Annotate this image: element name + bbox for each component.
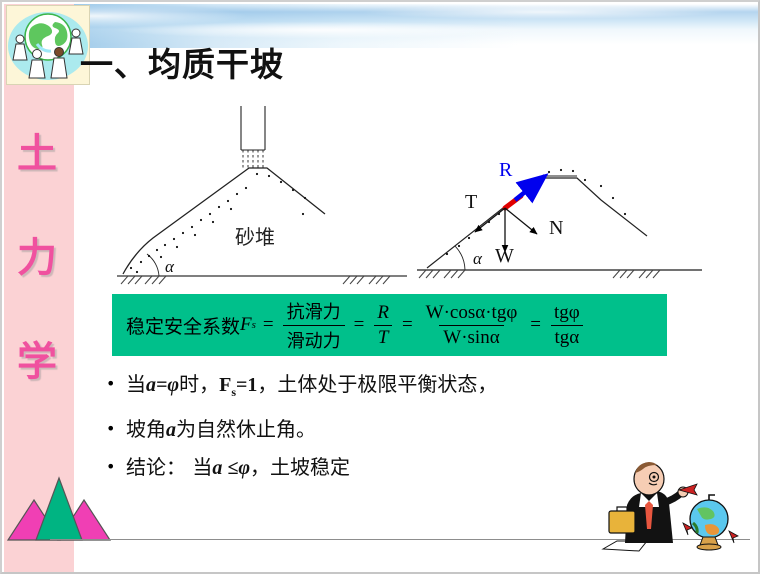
mountain-center-icon — [36, 478, 82, 540]
formula-equals-4: = — [530, 314, 541, 336]
formula-fraction-2: R T — [373, 302, 393, 349]
frac4-numerator: tgφ — [550, 302, 584, 325]
angle-label-left: α — [165, 257, 175, 276]
formula-lead-symbol: F — [240, 314, 252, 336]
b2-v1: a — [166, 419, 176, 441]
force-vector-N — [505, 208, 537, 234]
ground-hatching — [121, 276, 390, 284]
formula-lead-label: 稳定安全系数 — [126, 312, 240, 339]
frac4-denominator: tgα — [551, 325, 584, 349]
formula-fraction-3: W·cosα·tgφ W·sinα — [422, 302, 522, 349]
sand-pile-diagram: 砂堆 α — [117, 102, 417, 292]
b3-v2: φ — [238, 457, 250, 479]
bullet-text-2: 坡角a为自然休止角。 — [126, 415, 316, 444]
b3-p1: 结论： — [126, 455, 186, 479]
sidebar-vertical-title: 土 力 学 — [2, 102, 72, 414]
force-label-N: N — [549, 217, 563, 239]
bullet-dot: • — [102, 415, 126, 443]
bullet-dot: • — [102, 370, 126, 398]
angle-label-right: α — [473, 249, 483, 268]
formula-lead-symbol-sub: s — [252, 319, 256, 331]
briefcase-handle — [617, 507, 627, 511]
ground-hatching-right — [419, 270, 660, 278]
formula-box: 稳定安全系数 F s = 抗滑力 滑动力 = R T = W·cosα·tgφ … — [112, 294, 667, 356]
bullet-text-3: 结论： 当a ≤φ，土坡稳定 — [126, 453, 350, 482]
force-label-R: R — [499, 159, 513, 181]
force-vector-R — [515, 176, 545, 200]
sand-grains — [130, 173, 306, 273]
force-vector-T — [475, 208, 505, 232]
force-label-W: W — [495, 245, 514, 267]
formula-equals-2: = — [354, 314, 365, 336]
frac2-numerator: R — [373, 302, 393, 325]
frac1-numerator: 抗滑力 — [283, 298, 345, 325]
b1-v1: a — [146, 374, 156, 396]
b1-v2: φ — [167, 374, 179, 396]
b3-p2: 当 — [186, 455, 212, 479]
globe-axis — [709, 495, 715, 500]
list-item: • 当a=φ时，Fs=1，土体处于极限平衡状态， — [102, 370, 702, 406]
safety-factor-formula: 稳定安全系数 F s = 抗滑力 滑动力 = R T = W·cosα·tgφ … — [112, 298, 586, 353]
b1-p4: =1 — [236, 374, 257, 396]
globe-people-logo — [6, 5, 90, 85]
b2-p1: 坡角 — [126, 417, 166, 441]
frac2-denominator: T — [374, 325, 393, 349]
b1-p5: ，土体处于极限平衡状态， — [257, 372, 497, 396]
b3-p3: ≤ — [222, 457, 238, 479]
page-title: 一、均质干坡 — [80, 38, 284, 86]
sidebar-char-3: 学 — [2, 310, 72, 414]
formula-fraction-1: 抗滑力 滑动力 — [283, 298, 345, 353]
eye-icon — [653, 476, 656, 479]
b3-v1: a — [212, 457, 222, 479]
globe-base — [697, 544, 721, 550]
b1-p3: 时， — [179, 372, 219, 396]
sand-pile-label: 砂堆 — [235, 225, 275, 249]
b1-p2: = — [156, 374, 167, 396]
force-label-T: T — [465, 191, 477, 213]
frac3-numerator: W·cosα·tgφ — [422, 302, 522, 325]
bullet-text-1: 当a=φ时，Fs=1，土体处于极限平衡状态， — [126, 370, 497, 406]
list-item: • 坡角a为自然休止角。 — [102, 415, 702, 444]
b2-p2: 为自然休止角。 — [176, 417, 316, 441]
frac3-denominator: W·sinα — [439, 325, 503, 349]
formula-equals-3: = — [402, 314, 413, 336]
dart-icon-3 — [729, 531, 738, 543]
frac1-denominator: 滑动力 — [283, 325, 345, 353]
formula-equals-1: = — [263, 314, 274, 336]
formula-fraction-4: tgφ tgα — [550, 302, 584, 349]
slope-force-diagram: R T N W α — [417, 142, 707, 292]
briefcase-icon — [609, 511, 635, 533]
slide-canvas: 土 力 学 一、均质干坡 — [0, 0, 760, 574]
b1-p1: 当 — [126, 372, 146, 396]
b1-v3: F — [219, 374, 231, 396]
mountains-decoration — [4, 472, 114, 542]
sidebar-char-2: 力 — [2, 206, 72, 310]
sidebar-char-1: 土 — [2, 102, 72, 206]
businessman-darts-globe — [597, 457, 757, 557]
bullet-dot: • — [102, 453, 126, 481]
b3-p4: ，土坡稳定 — [250, 455, 350, 479]
